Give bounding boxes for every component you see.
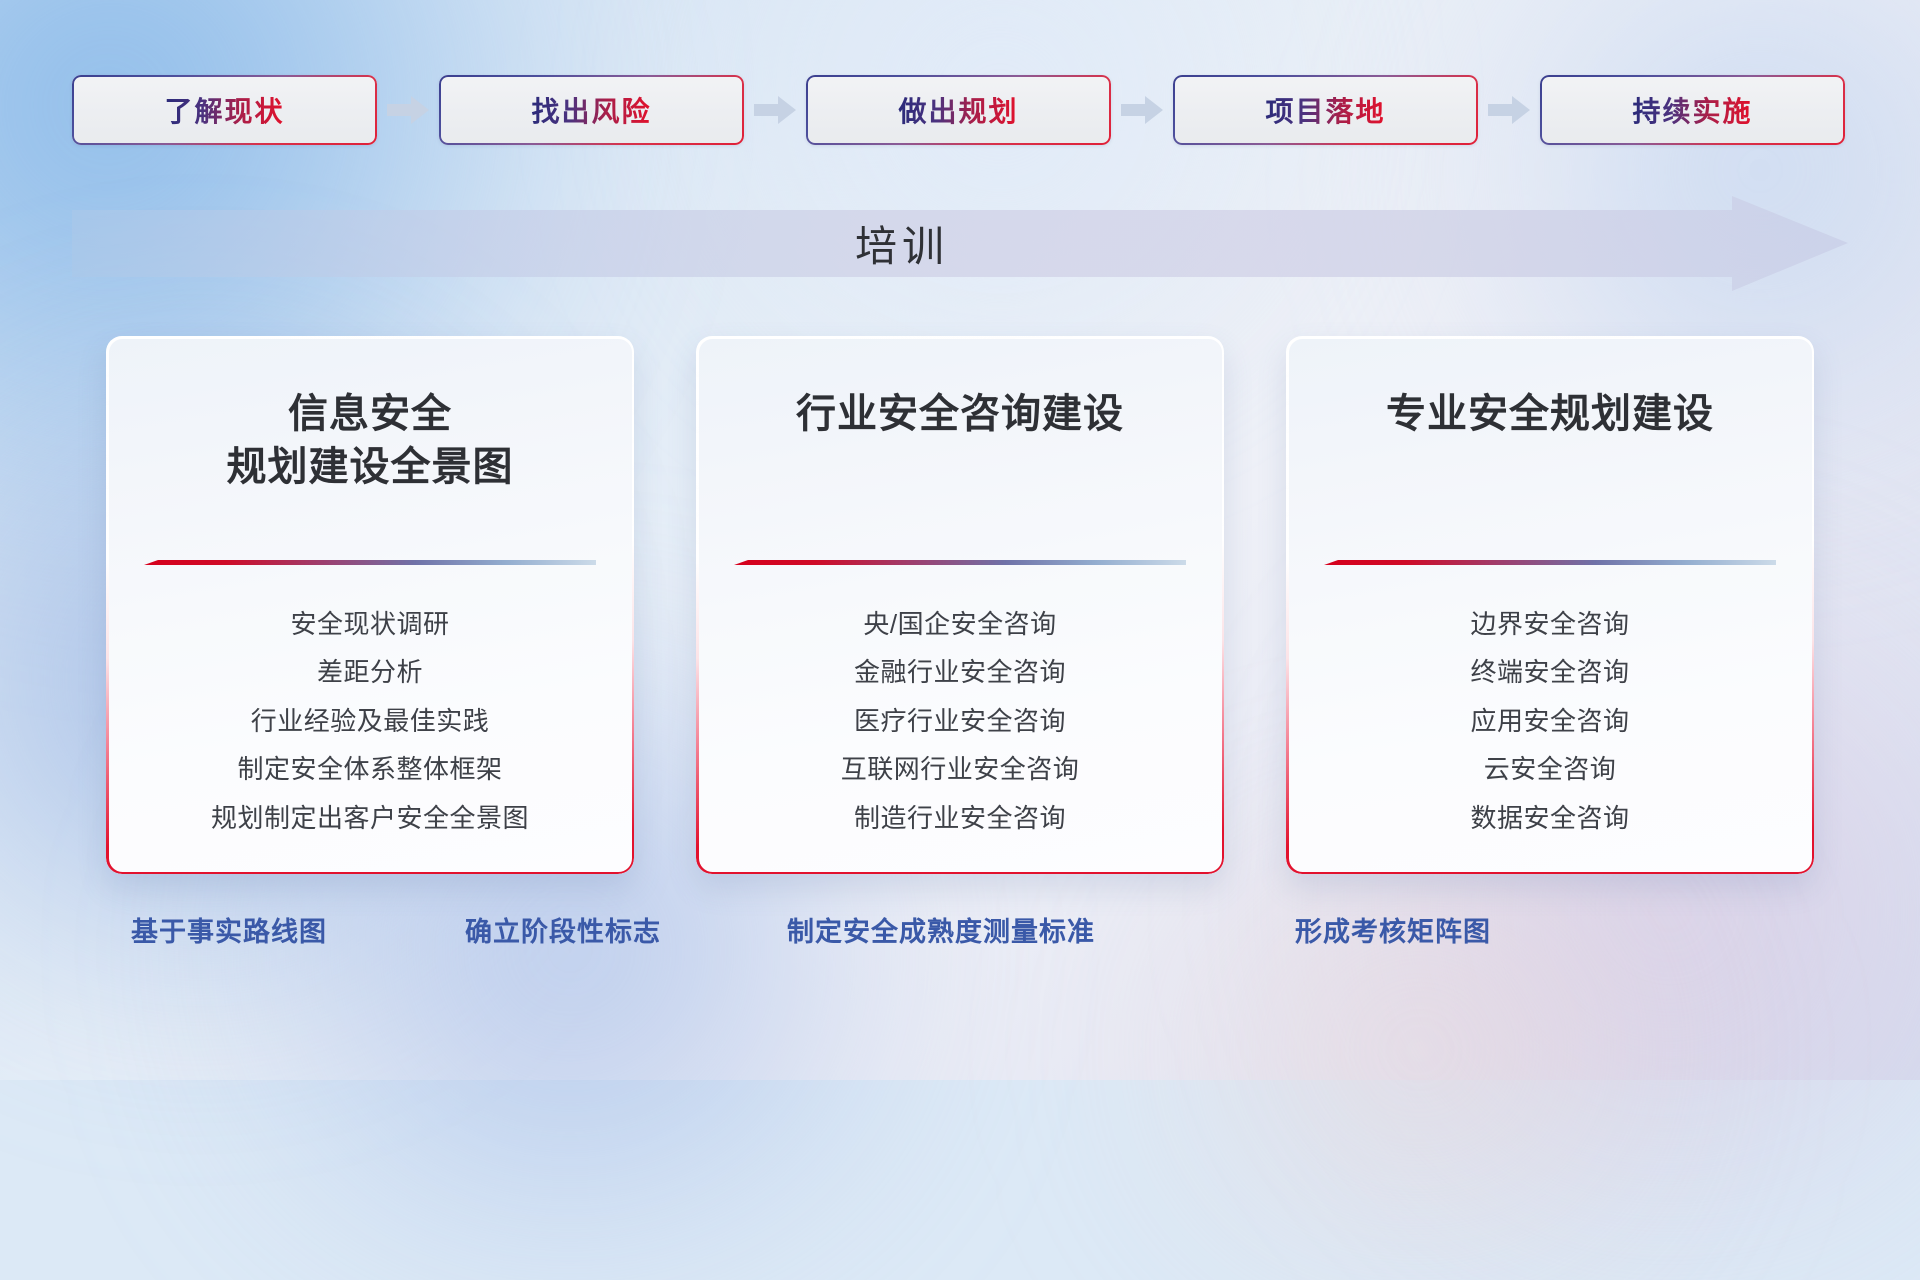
list-item: 互联网行业安全咨询 [841,753,1080,786]
list-item: 差距分析 [317,656,423,689]
footnote-row: 基于事实路线图 确立阶段性标志 制定安全成熟度测量标准 形成考核矩阵图 [0,910,1920,980]
card-item-list: 边界安全咨询 终端安全咨询 应用安全咨询 云安全咨询 数据安全咨询 [1312,608,1788,845]
process-step-label: 了解现状 [164,90,284,130]
process-step-row: 了解现状 找出风险 做出规划 项目落地 持续实施 [0,70,1920,150]
process-step-label: 持续实施 [1632,90,1752,130]
footnote-label: 基于事实路线图 [131,910,327,949]
training-banner: 培训 [72,196,1848,291]
card-title-wrap: 信息安全 规划建设全景图 [227,388,514,494]
gradient-divider-icon [1324,560,1776,574]
list-item: 边界安全咨询 [1470,608,1629,641]
card-divider-area [1312,441,1788,574]
list-item: 央/国企安全咨询 [863,608,1056,641]
arrow-right-icon [754,95,796,125]
list-item: 云安全咨询 [1484,753,1617,786]
arrow-right-icon [1488,95,1530,125]
card-information-security-blueprint[interactable]: 信息安全 规划建设全景图 [106,336,634,874]
card-item-list: 央/国企安全咨询 金融行业安全咨询 医疗行业安全咨询 互联网行业安全咨询 制造行… [722,608,1198,845]
gradient-divider-icon [144,560,596,574]
gradient-divider-icon [734,560,1186,574]
card-industry-security-consulting[interactable]: 行业安全咨询建设 [696,336,1224,874]
process-step-5[interactable]: 持续实施 [1540,75,1845,145]
list-item: 应用安全咨询 [1470,705,1629,738]
card-title: 信息安全 规划建设全景图 [227,388,514,494]
process-step-4[interactable]: 项目落地 [1173,75,1478,145]
process-step-label: 做出规划 [898,90,1018,130]
list-item: 行业经验及最佳实践 [251,705,490,738]
list-item: 医疗行业安全咨询 [854,705,1066,738]
list-item: 安全现状调研 [290,608,449,641]
process-step-1[interactable]: 了解现状 [72,75,377,145]
arrow-right-icon [1121,95,1163,125]
card-row: 信息安全 规划建设全景图 [0,336,1920,876]
card-item-list: 安全现状调研 差距分析 行业经验及最佳实践 制定安全体系整体框架 规划制定出客户… [132,608,608,845]
card-title-wrap: 专业安全规划建设 [1386,388,1714,441]
process-step-label: 找出风险 [531,90,651,130]
footnote-label: 形成考核矩阵图 [1295,910,1491,949]
process-step-label: 项目落地 [1265,90,1385,130]
process-step-3[interactable]: 做出规划 [806,75,1111,145]
list-item: 终端安全咨询 [1470,656,1629,689]
card-title: 专业安全规划建设 [1386,388,1714,441]
list-item: 金融行业安全咨询 [854,656,1066,689]
process-step-2[interactable]: 找出风险 [439,75,744,145]
footnote-label: 制定安全成熟度测量标准 [787,910,1095,949]
footnote-label: 确立阶段性标志 [465,910,661,949]
list-item: 数据安全咨询 [1470,802,1629,835]
list-item: 制造行业安全咨询 [854,802,1066,835]
banner-label: 培训 [72,196,1732,291]
card-divider-area [132,494,608,574]
card-divider-area [722,441,1198,574]
arrow-right-icon [387,95,429,125]
list-item: 制定安全体系整体框架 [237,753,502,786]
list-item: 规划制定出客户安全全景图 [211,802,529,835]
card-title-wrap: 行业安全咨询建设 [796,388,1124,441]
card-title: 行业安全咨询建设 [796,388,1124,441]
card-professional-security-planning[interactable]: 专业安全规划建设 [1286,336,1814,874]
